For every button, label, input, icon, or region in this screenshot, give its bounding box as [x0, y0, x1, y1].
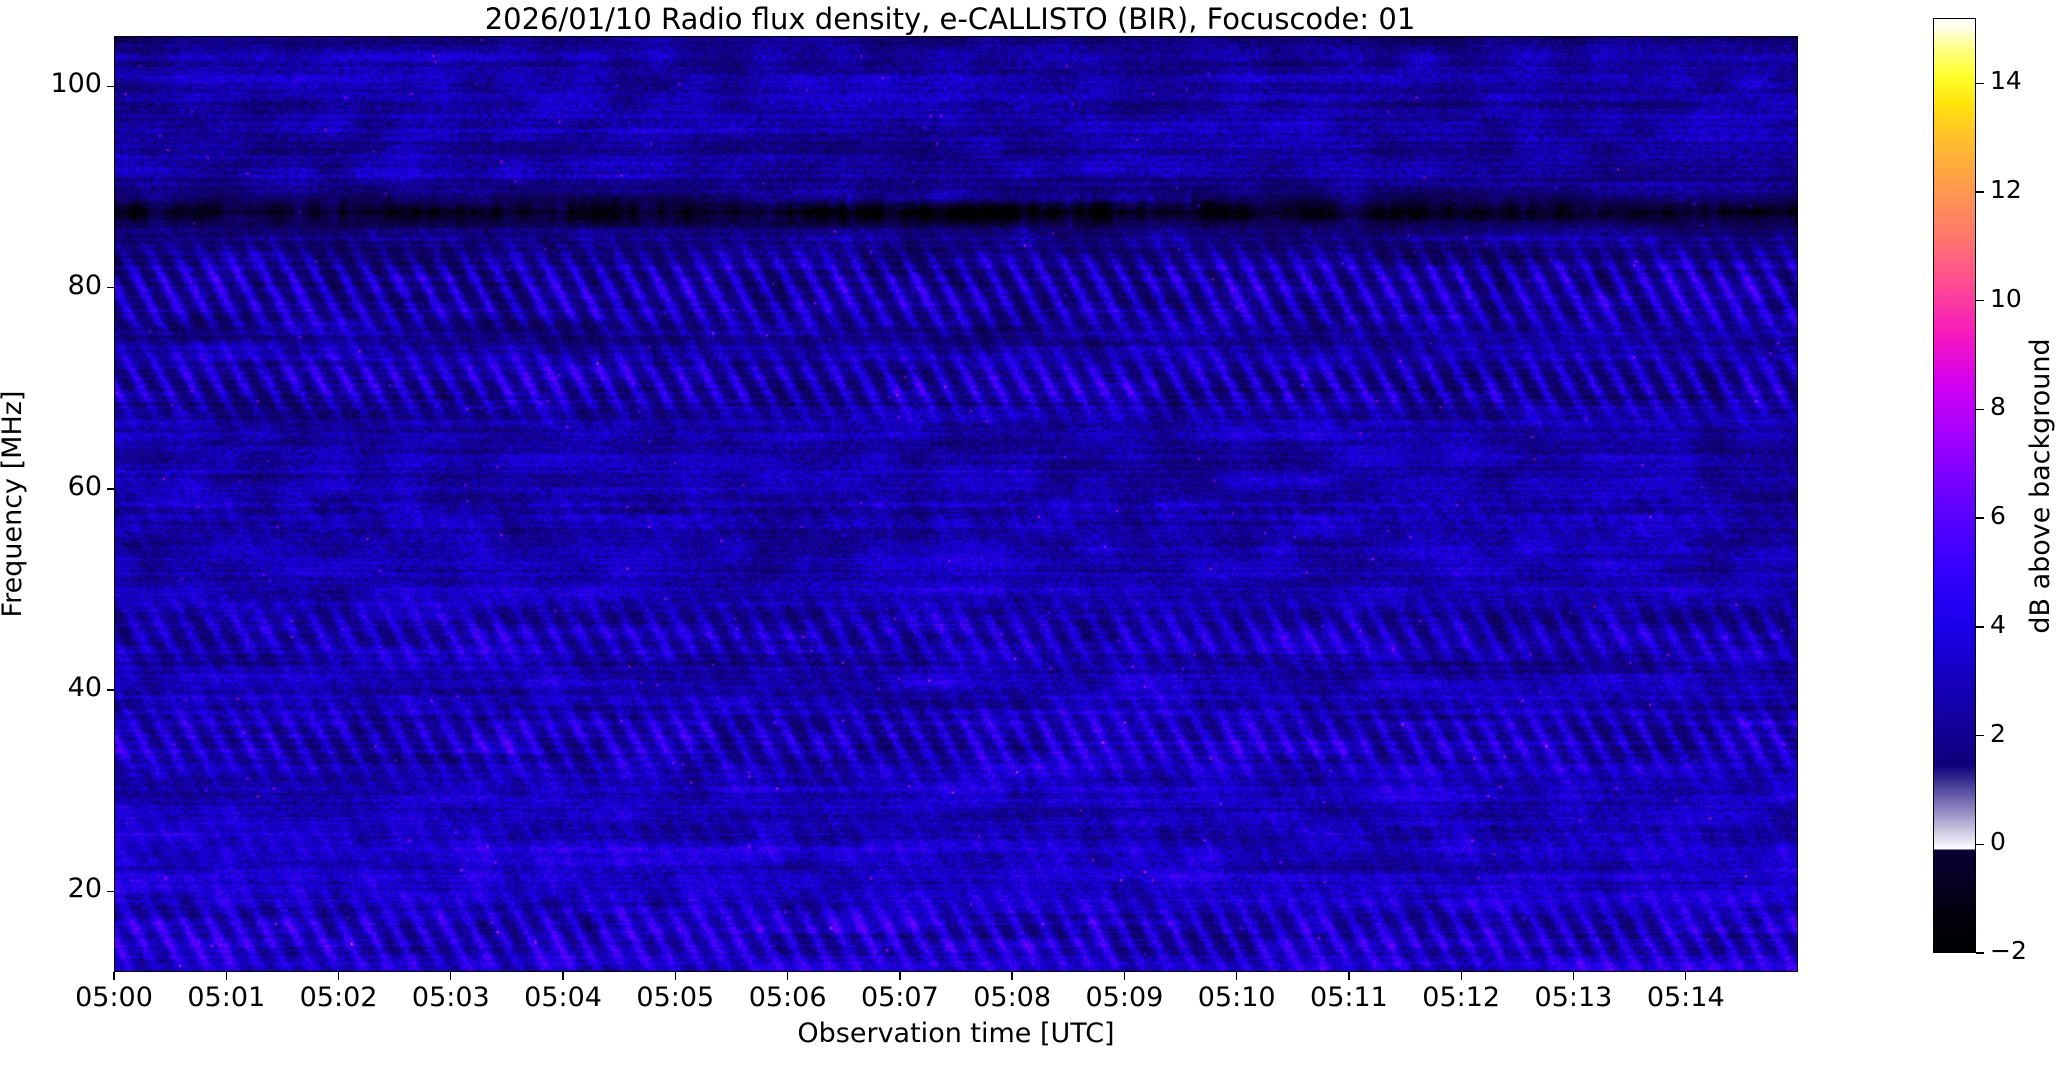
- colorbar-tick-label: −2: [1990, 936, 2027, 965]
- x-tick-label: 05:00: [54, 982, 174, 1013]
- colorbar-tick-label: 12: [1990, 175, 2022, 204]
- x-tick-label: 05:07: [840, 982, 960, 1013]
- colorbar-tick-mark: [1976, 409, 1984, 410]
- x-tick-label: 05:12: [1401, 982, 1521, 1013]
- x-tick-mark: [1348, 972, 1349, 980]
- x-tick-mark: [675, 972, 676, 980]
- y-tick-mark: [107, 488, 114, 489]
- x-tick-mark: [226, 972, 227, 980]
- x-tick-label: 05:14: [1626, 982, 1746, 1013]
- y-tick-label: 60: [30, 471, 102, 502]
- y-tick-label: 80: [30, 270, 102, 301]
- colorbar-tick-label: 0: [1990, 827, 2006, 856]
- x-tick-mark: [1461, 972, 1462, 980]
- x-tick-label: 05:06: [728, 982, 848, 1013]
- y-tick-label: 100: [30, 68, 102, 99]
- colorbar[interactable]: [1933, 18, 1976, 953]
- x-tick-mark: [338, 972, 339, 980]
- x-tick-mark: [1124, 972, 1125, 980]
- colorbar-tick-mark: [1976, 735, 1984, 736]
- x-tick-label: 05:03: [391, 982, 511, 1013]
- colorbar-tick-mark: [1976, 300, 1984, 301]
- x-tick-label: 05:05: [615, 982, 735, 1013]
- x-tick-label: 05:04: [503, 982, 623, 1013]
- y-tick-label: 40: [30, 672, 102, 703]
- colorbar-tick-label: 6: [1990, 501, 2006, 530]
- colorbar-tick-mark: [1976, 83, 1984, 84]
- colorbar-tick-mark: [1976, 952, 1984, 953]
- x-tick-label: 05:13: [1513, 982, 1633, 1013]
- colorbar-label: dB above background: [2025, 338, 2056, 633]
- figure-canvas: 2026/01/10 Radio flux density, e-CALLIST…: [0, 0, 2066, 1067]
- colorbar-tick-label: 10: [1990, 284, 2022, 313]
- colorbar-tick-mark: [1976, 191, 1984, 192]
- colorbar-tick-mark: [1976, 626, 1984, 627]
- x-tick-mark: [1573, 972, 1574, 980]
- x-tick-label: 05:08: [952, 982, 1072, 1013]
- page-title: 2026/01/10 Radio flux density, e-CALLIST…: [0, 2, 1900, 36]
- colorbar-tick-label: 14: [1990, 66, 2022, 95]
- y-tick-mark: [107, 891, 114, 892]
- x-tick-mark: [450, 972, 451, 980]
- spectrogram-image: [115, 37, 1797, 971]
- spectrogram-plot[interactable]: [114, 36, 1798, 972]
- x-tick-mark: [1685, 972, 1686, 980]
- y-tick-mark: [107, 287, 114, 288]
- y-tick-mark: [107, 689, 114, 690]
- x-tick-mark: [1236, 972, 1237, 980]
- y-axis-label: Frequency [MHz]: [0, 391, 28, 618]
- x-tick-label: 05:02: [279, 982, 399, 1013]
- colorbar-tick-label: 2: [1990, 719, 2006, 748]
- x-tick-mark: [899, 972, 900, 980]
- colorbar-tick-label: 8: [1990, 392, 2006, 421]
- y-tick-mark: [107, 86, 114, 87]
- x-tick-mark: [787, 972, 788, 980]
- colorbar-tick-mark: [1976, 844, 1984, 845]
- x-tick-mark: [562, 972, 563, 980]
- colorbar-tick-mark: [1976, 517, 1984, 518]
- x-tick-label: 05:09: [1064, 982, 1184, 1013]
- x-axis-label: Observation time [UTC]: [114, 1018, 1798, 1049]
- x-tick-label: 05:10: [1177, 982, 1297, 1013]
- x-tick-mark: [113, 972, 114, 980]
- x-tick-mark: [1011, 972, 1012, 980]
- colorbar-tick-label: 4: [1990, 610, 2006, 639]
- y-tick-label: 20: [30, 873, 102, 904]
- x-tick-label: 05:01: [166, 982, 286, 1013]
- x-tick-label: 05:11: [1289, 982, 1409, 1013]
